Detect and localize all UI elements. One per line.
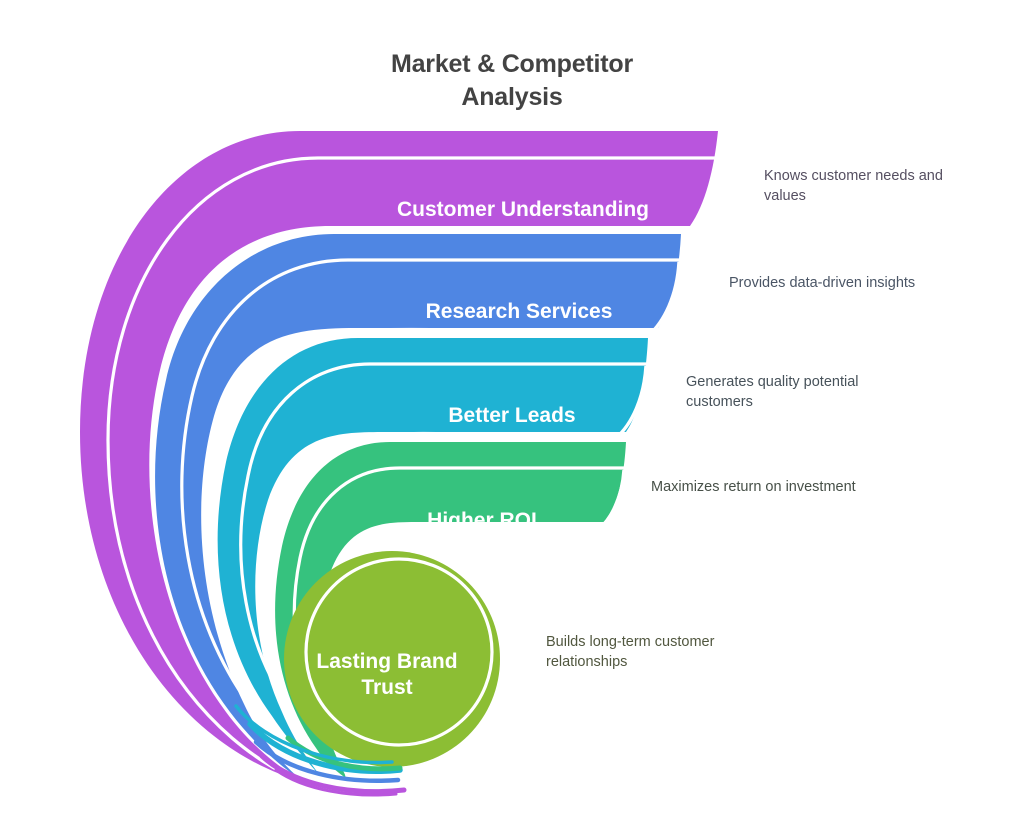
band-label-better-leads: Better Leads <box>448 404 575 427</box>
core-label-line-1: Lasting Brand <box>316 650 457 673</box>
band-label-research-services: Research Services <box>426 300 613 323</box>
infographic-page: Market & Competitor Analysis Customer Un… <box>0 0 1024 815</box>
annotation-research-services: Provides data-driven insights <box>729 273 964 293</box>
funnel-core-lasting-brand-trust[interactable]: Lasting Brand Trust <box>284 551 500 767</box>
band-label-customer-understanding: Customer Understanding <box>397 198 649 221</box>
core-label-line-2: Trust <box>361 676 412 699</box>
annotation-better-leads: Generates quality potential customers <box>686 372 901 412</box>
annotation-customer-understanding: Knows customer needs and values <box>764 166 979 206</box>
annotation-higher-roi: Maximizes return on investment <box>651 477 856 497</box>
annotation-lasting-brand-trust: Builds long-term customer relationships <box>546 632 761 672</box>
band-label-higher-roi: Higher ROI <box>427 509 537 532</box>
